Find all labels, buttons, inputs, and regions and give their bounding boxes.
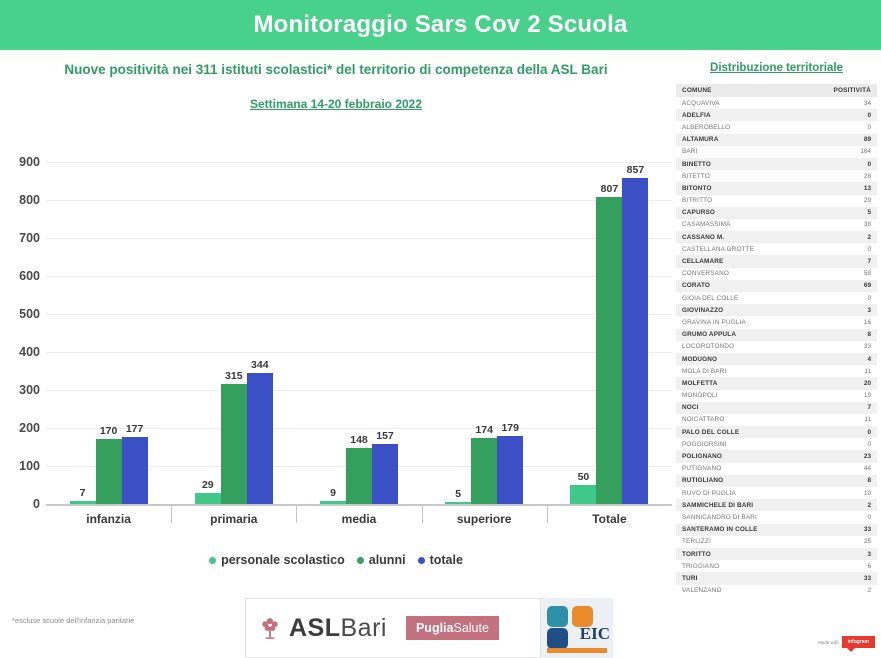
cell-positivita: 0 — [777, 511, 878, 523]
cell-positivita: 38 — [777, 219, 878, 231]
bar-value-label: 5 — [455, 488, 461, 500]
table-panel: Distribuzione territoriale COMUNE Positi… — [672, 50, 881, 654]
table-row: LOCOROTONDO33 — [676, 341, 877, 353]
y-axis-tick: 300 — [19, 383, 40, 397]
cell-comune: CONVERSANO — [676, 268, 777, 280]
table-row: TURI33 — [676, 572, 877, 584]
cell-comune: PUTIGNANO — [676, 463, 777, 475]
table-row: ALTAMURA89 — [676, 134, 877, 146]
cell-comune: CORATO — [676, 280, 777, 292]
legend-color-swatch — [209, 557, 216, 564]
cell-comune: POLIGNANO — [676, 450, 777, 462]
table-row: ALBEROBELLO0 — [676, 121, 877, 133]
cell-comune: BITETTO — [676, 170, 777, 182]
cell-positivita: 7 — [777, 255, 878, 267]
cell-positivita: 4 — [777, 353, 878, 365]
bar-value-label: 179 — [501, 422, 519, 434]
y-axis: 0100200300400500600700800900 — [0, 162, 46, 504]
cell-positivita: 33 — [777, 341, 878, 353]
table-row: GRUMO APPULA8 — [676, 329, 877, 341]
asl-wordmark: ASLBari — [289, 614, 387, 643]
bar-value-label: 9 — [330, 487, 336, 499]
cell-positivita: 0 — [777, 438, 878, 450]
bar-value-label: 170 — [100, 425, 118, 437]
cell-comune: SAMMICHELE DI BARI — [676, 499, 777, 511]
cell-positivita: 16 — [777, 316, 878, 328]
bar-value-label: 7 — [80, 487, 86, 499]
cell-comune: RUTIGLIANO — [676, 475, 777, 487]
bar[interactable]: 179 — [497, 436, 523, 504]
table-row: CASAMASSIMA38 — [676, 219, 877, 231]
bar[interactable]: 29 — [195, 493, 221, 504]
cell-comune: CASTELLANA GROTTE — [676, 243, 777, 255]
bar-value-label: 174 — [475, 424, 493, 436]
header-banner: Monitoraggio Sars Cov 2 Scuola — [0, 0, 881, 50]
bar-groups: 7170177293153449148157517417950807857 — [46, 162, 672, 504]
cell-positivita: 13 — [777, 182, 878, 194]
legend-label: alunni — [369, 553, 406, 567]
eic-wordmark: EIC — [580, 624, 610, 644]
tree-icon — [260, 616, 280, 640]
bar-group-superiore: 5174179 — [422, 162, 547, 504]
table-head: COMUNE Positività — [676, 84, 877, 97]
asl-light-text: Bari — [341, 614, 387, 642]
legend-color-swatch — [357, 557, 364, 564]
column-header-positivita: Positività — [777, 84, 878, 97]
cell-positivita: 0 — [777, 292, 878, 304]
table-row: POGGIORSINI0 — [676, 438, 877, 450]
table-row: TORITTO3 — [676, 548, 877, 560]
cell-comune: SANNICANDRO DI BARI — [676, 511, 777, 523]
table-row: NOICATTARO11 — [676, 414, 877, 426]
table-row: MOLA DI BARI11 — [676, 365, 877, 377]
cell-comune: RUVO DI PUGLIA — [676, 487, 777, 499]
cell-comune: CAPURSO — [676, 207, 777, 219]
cell-comune: GIOIA DEL COLLE — [676, 292, 777, 304]
cell-positivita: 10 — [777, 487, 878, 499]
cell-comune: CASSANO M. — [676, 231, 777, 243]
x-axis-label-primaria: primaria — [171, 506, 296, 532]
cell-positivita: 0 — [777, 109, 878, 121]
table-row: RUVO DI PUGLIA10 — [676, 487, 877, 499]
cell-comune: GRUMO APPULA — [676, 329, 777, 341]
cell-positivita: 25 — [777, 536, 878, 548]
cell-positivita: 2 — [777, 585, 878, 597]
cell-comune: TURI — [676, 572, 777, 584]
bar-value-label: 50 — [578, 471, 590, 483]
legend-item-personale[interactable]: personale scolastico — [209, 553, 345, 567]
bar-value-label: 807 — [601, 183, 619, 195]
table-row: MOLFETTA20 — [676, 377, 877, 389]
table-row: TRIGGIANO6 — [676, 560, 877, 572]
table-row: SANTERAMO IN COLLE33 — [676, 524, 877, 536]
cell-positivita: 69 — [777, 280, 878, 292]
cell-comune: SANTERAMO IN COLLE — [676, 524, 777, 536]
cell-positivita: 3 — [777, 304, 878, 316]
cell-positivita: 19 — [777, 390, 878, 402]
cell-positivita: 0 — [777, 158, 878, 170]
table-row: TERLIZZI25 — [676, 536, 877, 548]
table-row: PALO DEL COLLE0 — [676, 426, 877, 438]
cell-positivita: 6 — [777, 560, 878, 572]
asl-bari-logo: ASLBari PugliaSalute — [245, 598, 541, 658]
cell-comune: MOLA DI BARI — [676, 365, 777, 377]
cell-positivita: 8 — [777, 475, 878, 487]
cell-positivita: 0 — [777, 121, 878, 133]
cell-comune: POGGIORSINI — [676, 438, 777, 450]
table-row: PUTIGNANO44 — [676, 463, 877, 475]
table-row: NOCI7 — [676, 402, 877, 414]
table-row: CASSANO M.2 — [676, 231, 877, 243]
cell-positivita: 164 — [777, 146, 878, 158]
body-area: Nuove positività nei 311 istituti scolas… — [0, 50, 881, 654]
logo-strip: ASLBari PugliaSalute EIC — [245, 598, 613, 658]
table-row: BITETTO28 — [676, 170, 877, 182]
cell-comune: TORITTO — [676, 548, 777, 560]
table-row: MONOPOLI19 — [676, 390, 877, 402]
table-row: RUTIGLIANO8 — [676, 475, 877, 487]
bar[interactable]: 148 — [346, 448, 372, 504]
cell-positivita: 44 — [777, 463, 878, 475]
chart-panel: Nuove positività nei 311 istituti scolas… — [0, 50, 672, 654]
cell-comune: ALBEROBELLO — [676, 121, 777, 133]
cell-comune: PALO DEL COLLE — [676, 426, 777, 438]
bar-group-inner: 50807857 — [547, 162, 672, 504]
puglia-bold-text: Puglia — [416, 621, 454, 635]
bar[interactable]: 807 — [596, 197, 622, 504]
bar-value-label: 29 — [202, 479, 214, 491]
table-row: VALENZANO2 — [676, 585, 877, 597]
cell-positivita: 34 — [777, 97, 878, 109]
eic-square-globe — [547, 628, 568, 649]
cell-positivita: 7 — [777, 402, 878, 414]
x-axis: infanziaprimariamediasuperioreTotale — [46, 504, 672, 532]
cell-positivita: 8 — [777, 329, 878, 341]
table-row: BITRITTO29 — [676, 195, 877, 207]
table-row: BINETTO0 — [676, 158, 877, 170]
bar[interactable]: 50 — [570, 485, 596, 504]
cell-positivita: 33 — [777, 572, 878, 584]
cell-positivita: 3 — [777, 548, 878, 560]
cell-comune: NOICATTARO — [676, 414, 777, 426]
cell-comune: LOCOROTONDO — [676, 341, 777, 353]
table-row: SANNICANDRO DI BARI0 — [676, 511, 877, 523]
legend-label: totale — [430, 553, 463, 567]
table-row: POLIGNANO23 — [676, 450, 877, 462]
cell-comune: BINETTO — [676, 158, 777, 170]
table-row: SAMMICHELE DI BARI2 — [676, 499, 877, 511]
y-axis-tick: 400 — [19, 345, 40, 359]
y-axis-tick: 200 — [19, 421, 40, 435]
table-body: ACQUAVIVA34ADELFIA0ALBEROBELLO0ALTAMURA8… — [676, 97, 877, 597]
cell-comune: TERLIZZI — [676, 536, 777, 548]
bar-group-inner: 7170177 — [46, 162, 171, 504]
cell-positivita: 58 — [777, 268, 878, 280]
bar-value-label: 315 — [225, 370, 243, 382]
bar[interactable]: 315 — [221, 384, 247, 504]
table-row: ADELFIA0 — [676, 109, 877, 121]
bar[interactable]: 157 — [372, 444, 398, 504]
cell-positivita: 23 — [777, 450, 878, 462]
bar-value-label: 157 — [376, 430, 394, 442]
cell-positivita: 2 — [777, 231, 878, 243]
bar[interactable]: 857 — [622, 178, 648, 504]
y-axis-tick: 600 — [19, 269, 40, 283]
cell-comune: TRIGGIANO — [676, 560, 777, 572]
table-row: BITONTO13 — [676, 182, 877, 194]
table-row: CAPURSO5 — [676, 207, 877, 219]
bar-group-inner: 5174179 — [422, 162, 547, 504]
bar-group-totale: 50807857 — [547, 162, 672, 504]
table-row: GIOIA DEL COLLE0 — [676, 292, 877, 304]
bar-value-label: 148 — [350, 434, 368, 446]
cell-positivita: 89 — [777, 134, 878, 146]
cell-comune: MODUGNO — [676, 353, 777, 365]
table-row: CORATO69 — [676, 280, 877, 292]
bar-group-inner: 29315344 — [171, 162, 296, 504]
bar-group-infanzia: 7170177 — [46, 162, 171, 504]
table-row: MODUGNO4 — [676, 353, 877, 365]
table-row: BARI164 — [676, 146, 877, 158]
bar[interactable]: 170 — [96, 439, 122, 504]
y-axis-tick: 0 — [33, 497, 40, 511]
cell-comune: ALTAMURA — [676, 134, 777, 146]
cell-comune: CELLAMARE — [676, 255, 777, 267]
cell-comune: BARI — [676, 146, 777, 158]
bar[interactable]: 344 — [247, 373, 273, 504]
cell-positivita: 0 — [777, 243, 878, 255]
table-heading: Distribuzione territoriale — [672, 62, 881, 74]
bar-value-label: 857 — [627, 164, 645, 176]
x-axis-label-infanzia: infanzia — [46, 506, 171, 532]
distribution-table: COMUNE Positività ACQUAVIVA34ADELFIA0ALB… — [676, 84, 877, 597]
y-axis-tick: 500 — [19, 307, 40, 321]
bar-value-label: 177 — [126, 423, 144, 435]
cell-positivita: 11 — [777, 414, 878, 426]
puglia-light-text: Salute — [453, 621, 488, 635]
legend-item-alunni[interactable]: alunni — [357, 553, 406, 567]
cell-comune: BITRITTO — [676, 195, 777, 207]
chart-subtitle: Settimana 14-20 febbraio 2022 — [0, 97, 672, 111]
cell-comune: CASAMASSIMA — [676, 219, 777, 231]
table-row: CASTELLANA GROTTE0 — [676, 243, 877, 255]
legend-color-swatch — [418, 557, 425, 564]
cell-positivita: 29 — [777, 195, 878, 207]
table-row: GIOVINAZZO3 — [676, 304, 877, 316]
bar-value-label: 344 — [251, 359, 269, 371]
footnote: *escluse scuole dell'infanzia paritarie — [12, 616, 134, 625]
table-header-row: COMUNE Positività — [676, 84, 877, 97]
bar[interactable]: 174 — [471, 438, 497, 504]
chart-title: Nuove positività nei 311 istituti scolas… — [0, 62, 672, 77]
table-row: CONVERSANO58 — [676, 268, 877, 280]
y-axis-tick: 100 — [19, 459, 40, 473]
plot-area: 0100200300400500600700800900 71701772931… — [0, 162, 672, 524]
legend-item-totale[interactable]: totale — [418, 553, 463, 567]
cell-positivita: 5 — [777, 207, 878, 219]
table-row: ACQUAVIVA34 — [676, 97, 877, 109]
page-title: Monitoraggio Sars Cov 2 Scuola — [253, 11, 627, 39]
cell-positivita: 28 — [777, 170, 878, 182]
cell-comune: MOLFETTA — [676, 377, 777, 389]
cell-comune: MONOPOLI — [676, 390, 777, 402]
cell-positivita: 0 — [777, 426, 878, 438]
bar[interactable]: 177 — [122, 437, 148, 504]
y-axis-tick: 800 — [19, 193, 40, 207]
cell-comune: ACQUAVIVA — [676, 97, 777, 109]
table-row: CELLAMARE7 — [676, 255, 877, 267]
table-row: GRAVINA IN PUGLIA16 — [676, 316, 877, 328]
cell-comune: GIOVINAZZO — [676, 304, 777, 316]
y-axis-tick: 700 — [19, 231, 40, 245]
column-header-comune: COMUNE — [676, 84, 777, 97]
cell-comune: NOCI — [676, 402, 777, 414]
legend-label: personale scolastico — [221, 553, 345, 567]
eic-square-virus — [547, 606, 568, 627]
x-axis-label-totale: Totale — [547, 506, 672, 532]
eic-logo: EIC — [541, 598, 613, 658]
cell-positivita: 11 — [777, 365, 878, 377]
cell-comune: GRAVINA IN PUGLIA — [676, 316, 777, 328]
pugliasalute-badge: PugliaSalute — [406, 616, 499, 640]
chart-legend: personale scolasticoalunnitotale — [0, 553, 672, 567]
bar-group-media: 9148157 — [296, 162, 421, 504]
eic-accent-bar — [547, 648, 607, 653]
y-axis-tick: 900 — [19, 155, 40, 169]
x-axis-label-superiore: superiore — [422, 506, 547, 532]
x-axis-label-media: media — [296, 506, 421, 532]
asl-bold-text: ASL — [289, 614, 341, 642]
cell-comune: VALENZANO — [676, 585, 777, 597]
cell-comune: BITONTO — [676, 182, 777, 194]
cell-positivita: 20 — [777, 377, 878, 389]
cell-positivita: 2 — [777, 499, 878, 511]
bar-group-primaria: 29315344 — [171, 162, 296, 504]
bar-group-inner: 9148157 — [296, 162, 421, 504]
cell-positivita: 33 — [777, 524, 878, 536]
cell-comune: ADELFIA — [676, 109, 777, 121]
